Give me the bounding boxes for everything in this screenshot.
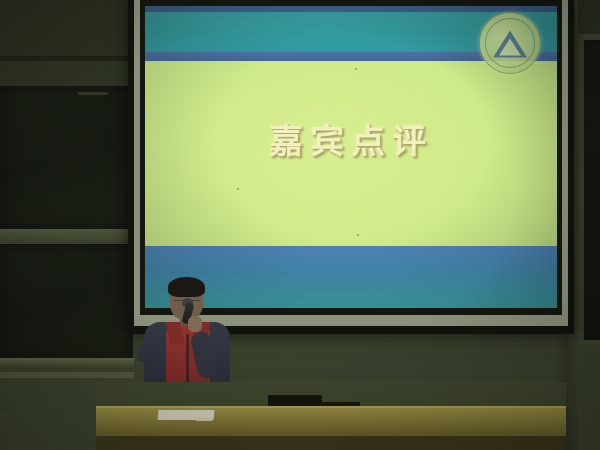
screen-dust-speck [237,188,239,190]
slide-title: 嘉宾点评 [145,114,557,163]
blackboard-divider [0,229,133,244]
chalk-ledge [0,358,134,367]
slide-top-edge [145,6,557,12]
seal-triangle-inner-icon [499,39,521,56]
presenter-right-hand [188,316,202,332]
screen-dust-speck [355,68,357,70]
projection-screen-surface: · · · · · · · · · · · · · 嘉宾点评 [140,0,562,315]
right-blackboard-panel [584,40,600,340]
projected-slide: · · · · · · · · · · · · · 嘉宾点评 [145,6,557,308]
chalk-ledge-shadow [0,372,134,378]
screen-dust-speck [357,234,359,236]
seal-rim-text-bottom: · · · · · [480,64,540,70]
blackboard-panel-lower [0,244,133,358]
blackboard-top-rail [0,56,134,61]
institution-seal-icon: · · · · · · · · · · · · · [479,12,541,74]
desk-front-shadow [96,436,566,450]
blackboard-panel-upper [0,86,133,229]
chalk-smudge [78,92,108,95]
pen [196,418,212,421]
seal-rim-text-top: · · · · · · · · [480,17,540,23]
classroom-photo-scene: · · · · · · · · · · · · · 嘉宾点评 [0,0,600,450]
